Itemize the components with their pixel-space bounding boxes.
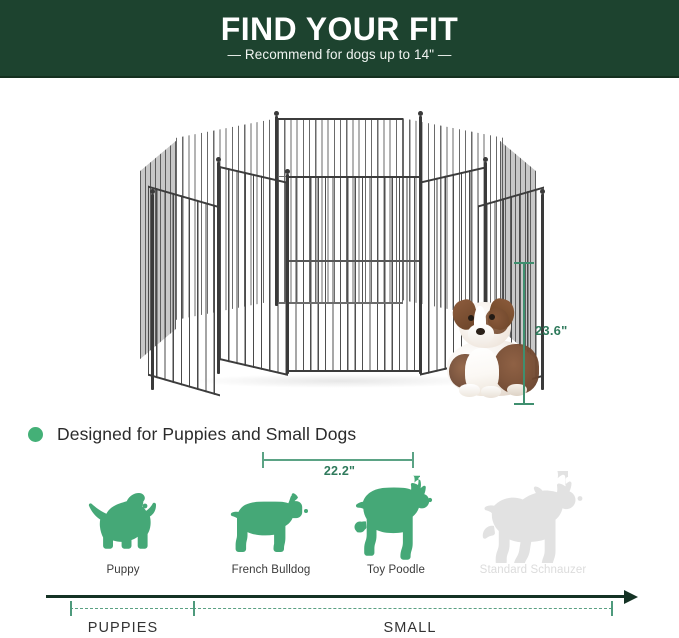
dog-playpen-illustration: [148, 100, 526, 368]
pen-post-1: [151, 194, 154, 390]
pen-post-cap-4: [418, 111, 423, 116]
pen-rail-gate-mid: [288, 260, 420, 262]
height-dimension-cap-top: [514, 262, 534, 264]
pen-post-cap-5: [274, 111, 279, 116]
pen-rail-gate-bottom: [288, 370, 420, 372]
pen-post-cap-1: [150, 189, 155, 194]
pen-post-cap-3: [285, 169, 290, 174]
pen-post-cap-6: [483, 157, 488, 162]
pen-rail-back-bottom: [278, 302, 403, 304]
puppy-photo: [441, 296, 545, 402]
toy-poodle-silhouette-icon: [346, 471, 446, 563]
standard-schnauzer-silhouette-wrap: [458, 468, 608, 563]
pen-post-cap-7: [540, 189, 545, 194]
puppy-silhouette-wrap: [48, 468, 198, 563]
pen-rail-back-top: [278, 118, 403, 120]
french-bulldog-silhouette-icon: [219, 479, 323, 563]
pen-panel-front-gate: [288, 176, 420, 372]
axis-line: [46, 595, 629, 598]
axis-tick-small-start: [193, 601, 195, 616]
height-dimension-cap-bottom: [514, 403, 534, 405]
size-scale-axis: PUPPIES SMALL: [0, 586, 679, 638]
breed-item-puppy: Puppy: [48, 468, 198, 586]
axis-tick-puppies-start: [70, 601, 72, 616]
axis-arrow-icon: [624, 590, 638, 604]
pen-post-3: [286, 174, 289, 374]
breed-size-row: Puppy French Bulldog Toy Poodle: [0, 468, 679, 586]
page-title: FIND YOUR FIT: [0, 12, 679, 46]
axis-group-label-small: SMALL: [350, 620, 470, 636]
feature-headline-label: Designed for Puppies and Small Dogs: [57, 424, 356, 445]
bullet-dot-icon: [28, 427, 43, 442]
pen-post-5: [275, 116, 278, 306]
axis-segment-puppies-dash: [70, 608, 193, 609]
pen-panel-front-left-mid: [220, 166, 288, 376]
breed-item-standard-schnauzer: Standard Schnauzer: [458, 468, 608, 586]
width-dimension-line: [262, 459, 413, 461]
pen-post-cap-2: [216, 157, 221, 162]
axis-group-label-puppies: PUPPIES: [63, 620, 183, 636]
banner-subtitle: — Recommend for dogs up to 14" —: [0, 47, 679, 63]
pen-post-2: [217, 162, 220, 374]
toy-poodle-silhouette-wrap: [321, 468, 471, 563]
pen-rail-gate-top: [288, 176, 420, 178]
height-dimension-label: 23.6": [535, 323, 567, 338]
height-dimension-line: [523, 262, 525, 404]
puppy-silhouette-icon: [75, 479, 171, 563]
breed-label-standard-schnauzer: Standard Schnauzer: [458, 564, 608, 576]
pen-post-4: [419, 116, 422, 374]
axis-segment-small-dash: [193, 608, 612, 609]
axis-tick-small-end: [611, 601, 613, 616]
product-image-stage: 23.6" 22.2": [0, 78, 679, 408]
feature-headline: Designed for Puppies and Small Dogs: [28, 424, 356, 445]
pen-panel-front-left: [148, 186, 220, 397]
breed-label-puppy: Puppy: [48, 564, 198, 576]
standard-schnauzer-silhouette-icon: [472, 471, 594, 563]
breed-label-toy-poodle: Toy Poodle: [321, 564, 471, 576]
breed-item-toy-poodle: Toy Poodle: [321, 468, 471, 586]
header-banner: FIND YOUR FIT — Recommend for dogs up to…: [0, 0, 679, 78]
